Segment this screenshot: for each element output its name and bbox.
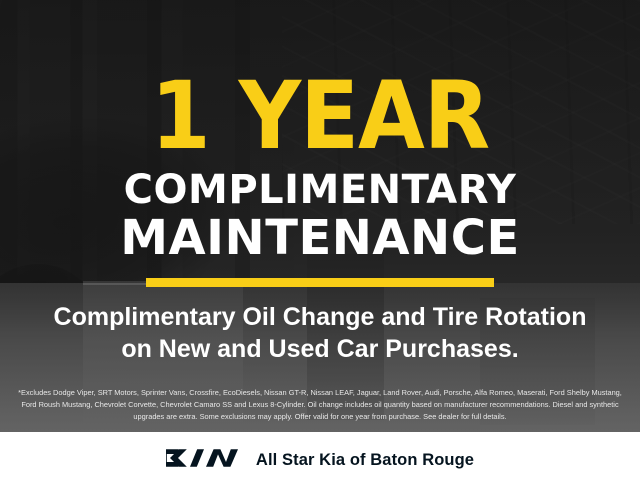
kia-logo-icon — [166, 447, 240, 474]
dealer-footer-bar: All Star Kia of Baton Rouge — [0, 432, 640, 488]
offer-description: Complimentary Oil Change and Tire Rotati… — [20, 301, 620, 365]
yellow-divider-bar — [146, 278, 494, 287]
banner-content: 1 YEAR COMPLIMENTARY MAINTENANCE Complim… — [0, 0, 640, 488]
promo-banner: 1 YEAR COMPLIMENTARY MAINTENANCE Complim… — [0, 0, 640, 488]
headline-complimentary: COMPLIMENTARY — [124, 170, 517, 210]
dealer-name-label: All Star Kia of Baton Rouge — [256, 451, 474, 470]
offer-line-2: on New and Used Car Purchases. — [20, 333, 620, 365]
headline-maintenance: MAINTENANCE — [120, 214, 519, 262]
offer-line-1: Complimentary Oil Change and Tire Rotati… — [20, 301, 620, 333]
disclaimer-text: *Excludes Dodge Viper, SRT Motors, Sprin… — [14, 387, 626, 422]
headline-year: 1 YEAR — [151, 74, 489, 160]
